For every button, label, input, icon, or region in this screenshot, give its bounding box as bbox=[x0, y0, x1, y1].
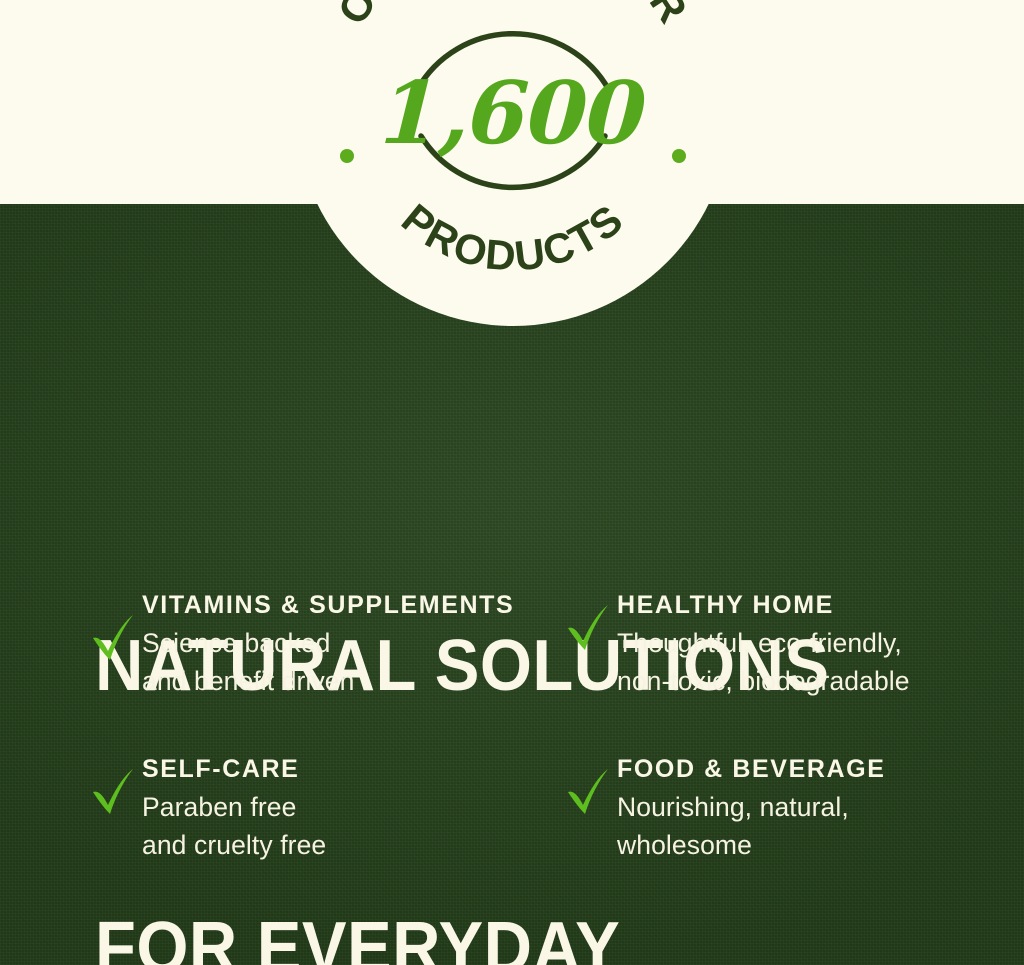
feature-title: FOOD & BEVERAGE bbox=[617, 752, 885, 786]
feature-title: SELF-CARE bbox=[142, 752, 326, 786]
badge-dot-right-icon bbox=[672, 149, 686, 163]
checkmark-icon bbox=[565, 766, 611, 818]
feature-description: Paraben free and cruelty free bbox=[142, 788, 326, 864]
badge-arc-upper-icon bbox=[417, 34, 609, 90]
feature-item-vitamins-supplements: VITAMINS & SUPPLEMENTS Science backed an… bbox=[90, 588, 545, 700]
feature-title-line-1: SELF-CARE bbox=[142, 755, 299, 783]
feature-item-healthy-home: HEALTHY HOME Thoughtful, eco-friendly, n… bbox=[565, 588, 1024, 700]
feature-item-food-beverage: FOOD & BEVERAGE Nourishing, natural, who… bbox=[565, 752, 1024, 864]
feature-desc-line-2: and benefit driven bbox=[142, 662, 514, 700]
feature-desc-line-2: wholesome bbox=[617, 826, 885, 864]
badge-bottom-arc-text: PRODUCTS bbox=[393, 195, 633, 280]
badge-dot-left-icon bbox=[340, 149, 354, 163]
badge-arc-lower-icon bbox=[421, 136, 605, 187]
feature-desc-line-1: Nourishing, natural, bbox=[617, 788, 885, 826]
feature-title: HEALTHY HOME bbox=[617, 588, 910, 622]
feature-description: Thoughtful, eco-friendly, non-toxic, bio… bbox=[617, 624, 910, 700]
checkmark-icon bbox=[90, 766, 136, 818]
feature-desc-line-1: Science backed bbox=[142, 624, 514, 662]
feature-desc-line-1: Thoughtful, eco-friendly, bbox=[617, 624, 910, 662]
feature-description: Science backed and benefit driven bbox=[142, 624, 514, 700]
promo-poster: OFFERING OVER PRODUCTS 1,600 NATURAL SOL… bbox=[0, 0, 1024, 965]
badge-top-arc-text: OFFERING OVER bbox=[328, 0, 697, 33]
badge-ring: OFFERING OVER PRODUCTS bbox=[295, 0, 731, 326]
feature-title-line-2: SUPPLEMENTS bbox=[309, 591, 514, 619]
feature-desc-line-2: non-toxic, biodegradable bbox=[617, 662, 910, 700]
checkmark-icon bbox=[90, 612, 136, 664]
feature-description: Nourishing, natural, wholesome bbox=[617, 788, 885, 864]
checkmark-icon bbox=[565, 602, 611, 654]
feature-list: VITAMINS & SUPPLEMENTS Science backed an… bbox=[0, 588, 1024, 864]
feature-title-line-1: FOOD & BEVERAGE bbox=[617, 755, 885, 783]
headline-line-2: FOR EVERYDAY bbox=[95, 901, 830, 965]
feature-title-line-1: HEALTHY HOME bbox=[617, 591, 834, 619]
feature-item-self-care: SELF-CARE Paraben free and cruelty free bbox=[90, 752, 545, 864]
feature-desc-line-1: Paraben free bbox=[142, 788, 326, 826]
feature-title-line-1: VITAMINS & bbox=[142, 591, 301, 619]
feature-desc-line-2: and cruelty free bbox=[142, 826, 326, 864]
feature-title: VITAMINS & SUPPLEMENTS bbox=[142, 588, 514, 622]
